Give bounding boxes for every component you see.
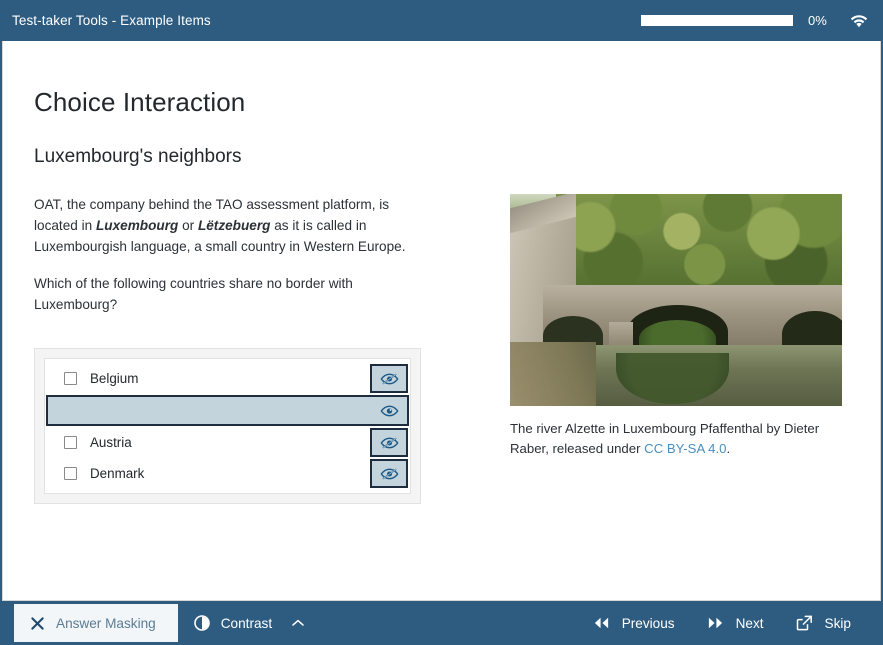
contrast-label: Contrast (221, 616, 272, 631)
caption-text-after: . (727, 441, 731, 456)
photo-bridge (543, 285, 842, 346)
choice-row-masked[interactable] (46, 395, 409, 426)
skip-button[interactable]: Skip (780, 604, 867, 642)
eye-slash-icon (380, 436, 399, 450)
item-content: Choice Interaction Luxembourg's neighbor… (34, 87, 854, 504)
progress-label: 0% (808, 13, 834, 28)
license-link[interactable]: CC BY-SA 4.0 (644, 441, 726, 456)
eye-slash-icon (380, 372, 399, 386)
double-arrow-right-icon (707, 616, 724, 630)
choice-list: Belgium (44, 358, 411, 494)
choice-panel: Belgium (34, 348, 421, 504)
choice-label-belgium[interactable]: Belgium (47, 363, 370, 394)
next-button[interactable]: Next (691, 604, 780, 642)
choice-checkbox[interactable] (64, 372, 77, 385)
skip-label: Skip (825, 616, 851, 631)
question-prompt: Which of the following countries share n… (34, 273, 426, 315)
choice-row[interactable]: Denmark (47, 458, 408, 489)
previous-button[interactable]: Previous (577, 604, 691, 642)
photo-reflection (616, 353, 729, 403)
double-arrow-left-icon (593, 616, 610, 630)
choice-label-austria[interactable]: Austria (47, 427, 370, 458)
page-title: Choice Interaction (34, 87, 854, 118)
chevron-up-icon (292, 619, 304, 627)
bridge-photo (510, 194, 842, 406)
intro-text-2: or (178, 218, 198, 233)
choice-checkbox[interactable] (64, 467, 77, 480)
toolbar-navigation: Previous Next (577, 604, 883, 642)
wifi-icon (849, 13, 869, 28)
answer-masking-label: Answer Masking (56, 616, 156, 631)
choice-checkbox[interactable] (64, 436, 77, 449)
bottom-toolbar: Answer Masking Contrast (0, 601, 883, 645)
item-subtitle: Luxembourg's neighbors (34, 146, 854, 168)
choice-row[interactable]: Austria (47, 427, 408, 458)
external-link-icon (796, 615, 813, 631)
left-column: OAT, the company behind the TAO assessme… (34, 194, 434, 504)
contrast-icon (194, 615, 210, 631)
masked-answer-overlay (46, 395, 371, 426)
top-bar-right: 0% (641, 13, 869, 28)
intro-paragraph: OAT, the company behind the TAO assessme… (34, 194, 426, 257)
figure: The river Alzette in Luxembourg Pfaffent… (510, 194, 842, 459)
choice-text: Denmark (90, 466, 144, 481)
unmask-toggle-button[interactable] (371, 395, 409, 426)
right-column: The river Alzette in Luxembourg Pfaffent… (510, 194, 842, 504)
eye-slash-icon (380, 467, 399, 481)
item-columns: OAT, the company behind the TAO assessme… (34, 194, 854, 504)
choice-text: Austria (90, 435, 132, 450)
mask-toggle-button[interactable] (370, 459, 408, 488)
choice-label-denmark[interactable]: Denmark (47, 458, 370, 489)
test-taker-app: Test-taker Tools - Example Items 0% Choi… (0, 0, 883, 645)
previous-label: Previous (622, 616, 675, 631)
progress-bar (641, 15, 793, 26)
choice-row[interactable]: Belgium (47, 363, 408, 394)
content-page: Choice Interaction Luxembourg's neighbor… (2, 41, 881, 601)
choice-text: Belgium (90, 371, 138, 386)
top-bar: Test-taker Tools - Example Items 0% (0, 0, 883, 41)
photo-arch (782, 311, 842, 348)
photo-pier (609, 322, 633, 347)
contrast-button[interactable]: Contrast (178, 604, 320, 642)
intro-emphasis-2: Lëtzebuerg (198, 218, 271, 233)
app-title: Test-taker Tools - Example Items (12, 13, 211, 28)
mask-toggle-button[interactable] (370, 364, 408, 393)
eye-icon (380, 404, 399, 418)
mask-toggle-button[interactable] (370, 428, 408, 457)
photo-riverbank (510, 342, 596, 406)
close-icon (30, 616, 45, 631)
intro-emphasis-1: Luxembourg (96, 218, 178, 233)
next-label: Next (736, 616, 764, 631)
figure-caption: The river Alzette in Luxembourg Pfaffent… (510, 419, 840, 459)
answer-masking-button[interactable]: Answer Masking (14, 604, 178, 642)
